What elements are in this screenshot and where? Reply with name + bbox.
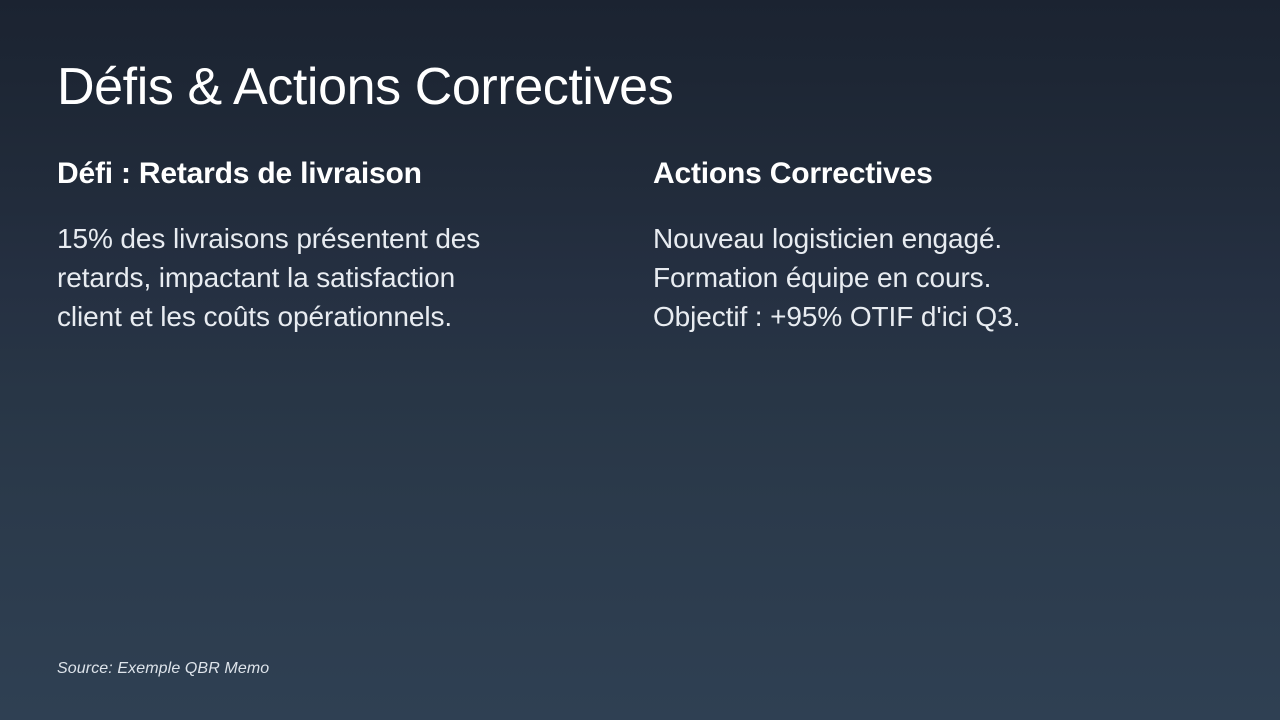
slide-canvas: Défis & Actions Correctives Défi : Retar… [0, 0, 1280, 720]
body-line: Formation équipe en cours. [653, 258, 1213, 297]
column-body-corrective-actions: Nouveau logisticien engagé. Formation éq… [653, 219, 1213, 336]
body-line: 15% des livraisons présentent des [57, 219, 577, 258]
page-title: Défis & Actions Correctives [57, 56, 1217, 118]
column-challenge: Défi : Retards de livraison 15% des livr… [57, 155, 577, 336]
body-line: Nouveau logisticien engagé. [653, 219, 1213, 258]
body-line: Objectif : +95% OTIF d'ici Q3. [653, 297, 1213, 336]
source-note: Source: Exemple QBR Memo [57, 657, 269, 681]
column-heading-corrective-actions: Actions Correctives [653, 155, 1213, 193]
column-heading-challenge: Défi : Retards de livraison [57, 155, 577, 193]
column-body-challenge: 15% des livraisons présentent des retard… [57, 219, 577, 336]
body-line: client et les coûts opérationnels. [57, 297, 577, 336]
content-columns: Défi : Retards de livraison 15% des livr… [57, 155, 1223, 336]
column-corrective-actions: Actions Correctives Nouveau logisticien … [653, 155, 1213, 336]
body-line: retards, impactant la satisfaction [57, 258, 577, 297]
